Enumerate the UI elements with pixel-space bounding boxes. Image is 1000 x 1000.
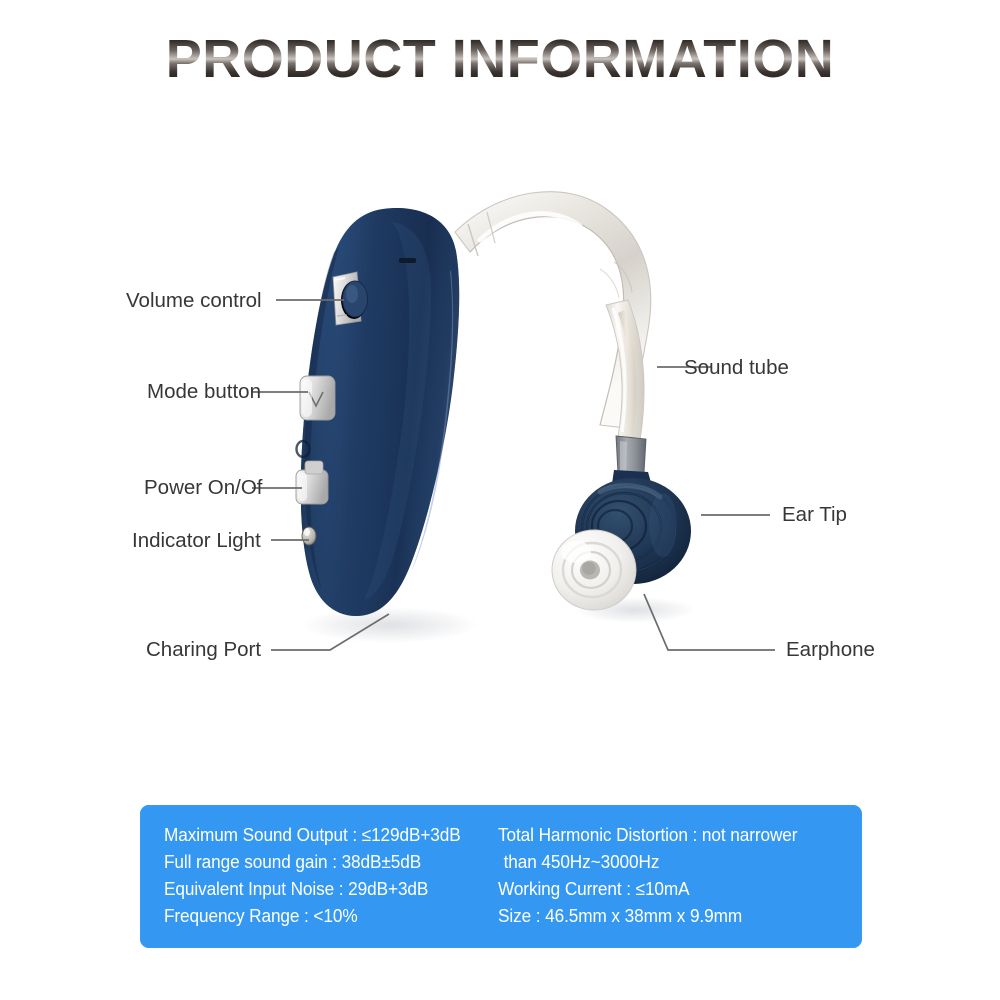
product-information-page: PRODUCT INFORMATION <box>0 0 1000 1000</box>
callout-label-earphone: Earphone <box>786 640 875 661</box>
spec-line: Total Harmonic Distortion : not narrower <box>498 821 797 848</box>
callout-label-indicator-light: Indicator Light <box>132 531 261 552</box>
spec-line: than 450Hz~3000Hz <box>498 848 797 875</box>
spec-line: Size : 46.5mm x 38mm x 9.9mm <box>498 902 797 929</box>
callout-label-volume-control: Volume control <box>126 291 262 312</box>
spec-line: Equivalent Input Noise : 29dB+3dB <box>164 875 461 902</box>
callout-label-charging-port: Charing Port <box>146 640 261 661</box>
body-shadow <box>302 607 478 643</box>
ear-tip <box>552 530 636 610</box>
specifications-box: Maximum Sound Output : ≤129dB+3dB Full r… <box>140 805 862 948</box>
spec-line: Maximum Sound Output : ≤129dB+3dB <box>164 821 461 848</box>
callout-label-mode-button: Mode button <box>147 382 261 403</box>
spec-column-right: Total Harmonic Distortion : not narrower… <box>498 821 820 929</box>
callout-label-power-on-off: Power On/Of <box>144 478 263 499</box>
indicator-light <box>302 527 316 545</box>
microphone-slot <box>399 258 416 263</box>
spec-line: Frequency Range : <10% <box>164 902 461 929</box>
spec-line: Working Current : ≤10mA <box>498 875 797 902</box>
callout-label-sound-tube: Sound tube <box>684 358 789 379</box>
spec-column-left: Maximum Sound Output : ≤129dB+3dB Full r… <box>164 821 483 929</box>
callout-label-ear-tip: Ear Tip <box>782 505 847 526</box>
power-switch[interactable] <box>296 461 328 504</box>
mode-button[interactable] <box>300 376 335 420</box>
spec-line: Full range sound gain : 38dB±5dB <box>164 848 461 875</box>
